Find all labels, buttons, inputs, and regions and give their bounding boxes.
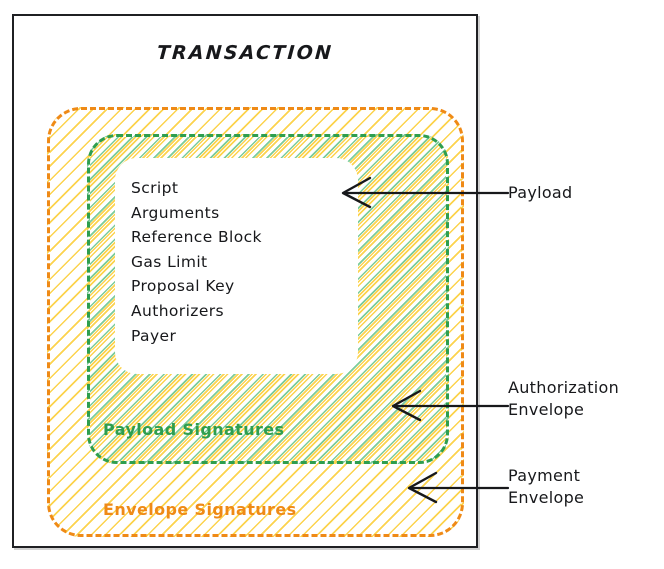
payment-annotation-label: Payment Envelope <box>508 465 584 509</box>
transaction-title: TRANSACTION <box>13 42 477 64</box>
payload-annotation-arrow <box>330 172 510 214</box>
payload-field-proposal-key: Proposal Key <box>131 274 262 299</box>
payload-card: Script Arguments Reference Block Gas Lim… <box>115 158 358 374</box>
payload-field-gas-limit: Gas Limit <box>131 250 262 275</box>
payload-field-script: Script <box>131 176 262 201</box>
payload-field-reference-block: Reference Block <box>131 225 262 250</box>
envelope-signatures-label: Envelope Signatures <box>103 500 297 519</box>
payment-annotation-arrow <box>396 467 510 509</box>
authorization-annotation-arrow <box>380 385 510 427</box>
payload-field-arguments: Arguments <box>131 201 262 226</box>
payload-field-payer: Payer <box>131 324 262 349</box>
payload-field-list: Script Arguments Reference Block Gas Lim… <box>131 176 262 348</box>
payload-signatures-label: Payload Signatures <box>103 420 284 439</box>
payload-annotation-label: Payload <box>508 182 573 204</box>
authorization-annotation-label: Authorization Envelope <box>508 377 619 421</box>
payload-field-authorizers: Authorizers <box>131 299 262 324</box>
